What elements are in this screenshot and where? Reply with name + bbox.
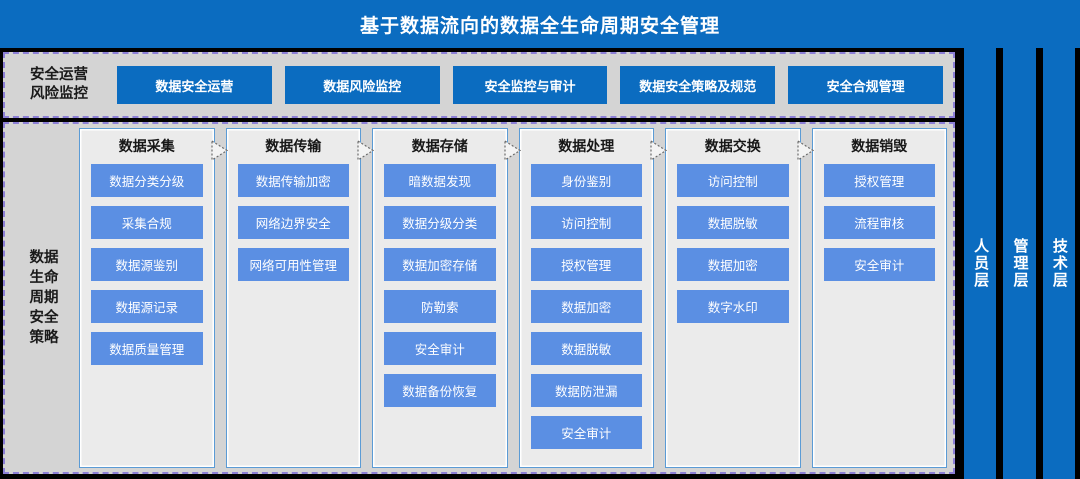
layer-bar-technology[interactable]: 技术层 [1043,48,1075,479]
stage-data-processing[interactable]: 数据处理 身份鉴别 访问控制 授权管理 数据加密 数据脱敏 数据防泄漏 安全审计 [519,128,655,468]
stage-item[interactable]: 访问控制 [677,164,789,197]
layer-bar-label: 人员层 [971,238,989,289]
stage-item[interactable]: 安全审计 [531,416,643,449]
stage-item[interactable]: 身份鉴别 [531,164,643,197]
stage-item[interactable]: 数据源记录 [91,290,203,323]
diagram-canvas: 基于数据流向的数据全生命周期安全管理 安全运营 风险监控 数据安全运营 数据风险… [0,0,1080,479]
flow-arrow-icon [797,140,814,161]
stage-item-list: 暗数据发现 数据分级分类 数据加密存储 防勒索 安全审计 数据备份恢复 [384,164,496,407]
data-lifecycle-label: 数据生命周期安全策略 [9,128,79,468]
stage-title: 数据销毁 [824,135,936,157]
flow-arrow-icon [504,140,521,161]
layer-bar-label: 管理层 [1010,238,1028,289]
diagram-title-bar: 基于数据流向的数据全生命周期安全管理 [0,0,1080,48]
layer-bar-personnel[interactable]: 人员层 [964,48,996,479]
ops-button-security-monitoring-audit[interactable]: 安全监控与审计 [453,66,608,104]
stage-item-list: 访问控制 数据脱敏 数据加密 数字水印 [677,164,789,323]
stage-data-storage[interactable]: 数据存储 暗数据发现 数据分级分类 数据加密存储 防勒索 安全审计 数据备份恢复 [372,128,508,468]
stage-title: 数据处理 [531,135,643,157]
stage-item[interactable]: 数据传输加密 [238,164,350,197]
stage-item[interactable]: 网络边界安全 [238,206,350,239]
stage-item[interactable]: 数据加密存储 [384,248,496,281]
stage-item[interactable]: 数据源鉴别 [91,248,203,281]
stage-item-list: 身份鉴别 访问控制 授权管理 数据加密 数据脱敏 数据防泄漏 安全审计 [531,164,643,449]
stage-item[interactable]: 数据分类分级 [91,164,203,197]
stage-item-list: 数据分类分级 采集合规 数据源鉴别 数据源记录 数据质量管理 [91,164,203,365]
security-operations-row: 安全运营 风险监控 数据安全运营 数据风险监控 安全监控与审计 数据安全策略及规… [3,52,955,118]
security-operations-buttons: 数据安全运营 数据风险监控 安全监控与审计 数据安全策略及规范 安全合规管理 [107,66,943,104]
flow-arrow-icon [211,140,228,161]
ops-button-data-security-policy[interactable]: 数据安全策略及规范 [620,66,775,104]
ops-button-data-risk-monitoring[interactable]: 数据风险监控 [285,66,440,104]
stage-item[interactable]: 数据脱敏 [677,206,789,239]
ops-button-data-security-operation[interactable]: 数据安全运营 [117,66,272,104]
stage-item-list: 授权管理 流程审核 安全审计 [824,164,936,281]
stage-item[interactable]: 安全审计 [824,248,936,281]
stage-item[interactable]: 数据防泄漏 [531,374,643,407]
lifecycle-stage-list: 数据采集 数据分类分级 采集合规 数据源鉴别 数据源记录 数据质量管理 数据传输 [79,128,947,468]
main-framework-area: 安全运营 风险监控 数据安全运营 数据风险监控 安全监控与审计 数据安全策略及规… [0,48,958,479]
stage-item[interactable]: 数据加密 [677,248,789,281]
stage-item[interactable]: 数据分级分类 [384,206,496,239]
stage-item[interactable]: 采集合规 [91,206,203,239]
flow-arrow-icon [650,140,667,161]
layer-bar-management[interactable]: 管理层 [1003,48,1035,479]
layer-bars: 人员层 管理层 技术层 [958,48,1080,479]
stage-item[interactable]: 数据质量管理 [91,332,203,365]
stage-item[interactable]: 数据备份恢复 [384,374,496,407]
stage-title: 数据采集 [91,135,203,157]
stage-data-transmission[interactable]: 数据传输 数据传输加密 网络边界安全 网络可用性管理 [226,128,362,468]
stage-data-destruction[interactable]: 数据销毁 授权管理 流程审核 安全审计 [812,128,948,468]
stage-item[interactable]: 防勒索 [384,290,496,323]
stage-title: 数据交换 [677,135,789,157]
stage-item[interactable]: 安全审计 [384,332,496,365]
stage-title: 数据存储 [384,135,496,157]
data-lifecycle-label-text: 数据生命周期安全策略 [30,248,59,348]
stage-data-collection[interactable]: 数据采集 数据分类分级 采集合规 数据源鉴别 数据源记录 数据质量管理 [79,128,215,468]
stage-item[interactable]: 授权管理 [824,164,936,197]
stage-item[interactable]: 数据加密 [531,290,643,323]
stage-item[interactable]: 授权管理 [531,248,643,281]
layer-bar-label: 技术层 [1050,238,1068,289]
security-operations-label: 安全运营 风险监控 [11,66,107,104]
stage-item[interactable]: 暗数据发现 [384,164,496,197]
stage-item[interactable]: 数字水印 [677,290,789,323]
stage-data-exchange[interactable]: 数据交换 访问控制 数据脱敏 数据加密 数字水印 [665,128,801,468]
stage-title: 数据传输 [238,135,350,157]
stage-item[interactable]: 访问控制 [531,206,643,239]
page-title: 基于数据流向的数据全生命周期安全管理 [360,11,720,38]
data-lifecycle-row: 数据生命周期安全策略 数据采集 数据分类分级 采集合规 数据源鉴别 数据源记录 … [3,122,955,474]
flow-arrow-icon [357,140,374,161]
stage-item[interactable]: 网络可用性管理 [238,248,350,281]
ops-button-security-compliance[interactable]: 安全合规管理 [788,66,943,104]
stage-item[interactable]: 数据脱敏 [531,332,643,365]
security-operations-label-line1: 安全运营 [11,66,107,85]
stage-item-list: 数据传输加密 网络边界安全 网络可用性管理 [238,164,350,281]
stage-item[interactable]: 流程审核 [824,206,936,239]
security-operations-label-line2: 风险监控 [11,85,107,104]
